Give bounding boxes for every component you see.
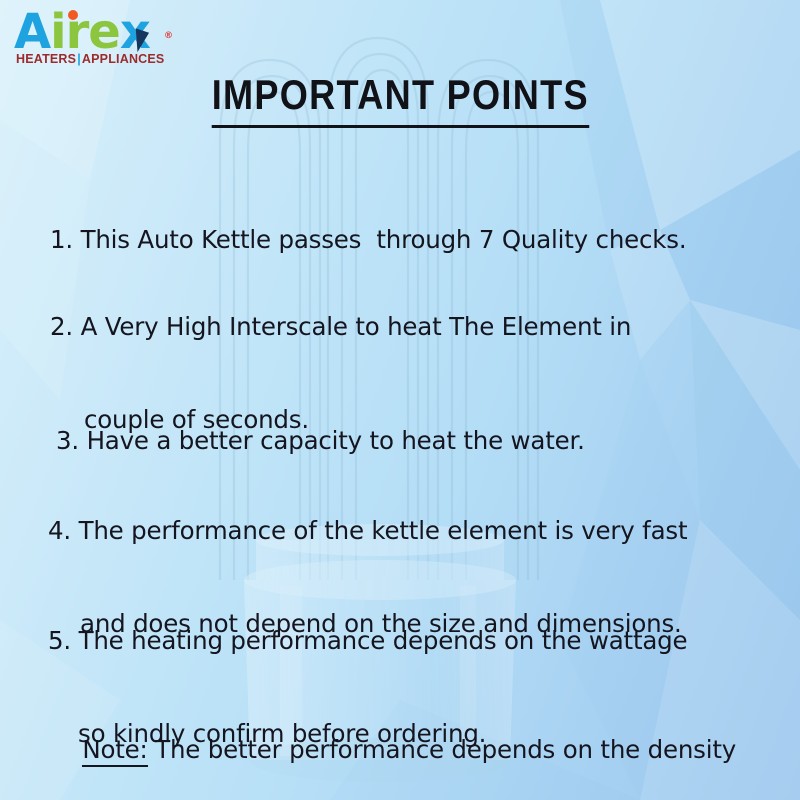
logo-tagline-appliances: APPLIANCES bbox=[82, 52, 165, 66]
logo-wordmark: Airex ® bbox=[14, 8, 194, 58]
logo-dot-icon bbox=[68, 10, 78, 20]
note-label: Note: bbox=[82, 735, 147, 767]
list-item-line-1: 3. Have a better capacity to heat the wa… bbox=[56, 425, 585, 456]
registered-trademark-icon: ® bbox=[164, 12, 172, 60]
logo-tagline: HEATERS|APPLIANCES bbox=[16, 52, 164, 66]
brand-logo: Airex ® HEATERS|APPLIANCES bbox=[14, 8, 194, 78]
list-item-line-1: 2. A Very High Interscale to heat The El… bbox=[50, 311, 631, 342]
list-item-line-1: 4. The performance of the kettle element… bbox=[48, 515, 687, 546]
list-item-line-1: 5. The heating performance depends on th… bbox=[48, 625, 687, 656]
note-block: Note: The better performance depends on … bbox=[52, 700, 736, 800]
page-title-text: IMPORTANT POINTS bbox=[211, 72, 588, 128]
logo-tagline-heaters: HEATERS bbox=[16, 52, 76, 66]
note-line-1: Note: The better performance depends on … bbox=[82, 735, 736, 767]
page-title: IMPORTANT POINTS bbox=[0, 72, 800, 128]
poster-canvas: Airex ® HEATERS|APPLIANCES IMPORTANT POI… bbox=[0, 0, 800, 800]
note-text: The better performance depends on the de… bbox=[148, 735, 736, 764]
